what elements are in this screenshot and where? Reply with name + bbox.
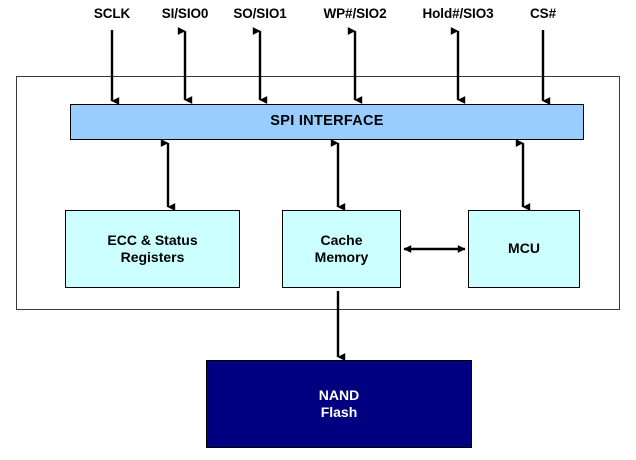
pin-label-sclk: SCLK — [94, 6, 130, 21]
block-nand-flash: NAND Flash — [206, 360, 472, 448]
block-diagram: SCLK SI/SIO0 SO/SIO1 WP#/SIO2 Hold#/SIO3… — [0, 0, 636, 460]
block-mcu: MCU — [468, 210, 580, 288]
block-mcu-label: MCU — [508, 240, 540, 257]
pin-label-si-sio0: SI/SIO0 — [162, 6, 209, 21]
pin-label-cs: CS# — [530, 6, 556, 21]
block-cache-memory: Cache Memory — [282, 210, 401, 288]
block-cache-memory-label: Cache Memory — [315, 232, 369, 266]
block-ecc-status-registers-label: ECC & Status Registers — [107, 232, 197, 266]
pin-label-wp-sio2: WP#/SIO2 — [324, 6, 387, 21]
block-spi-interface: SPI INTERFACE — [70, 104, 584, 140]
pin-label-so-sio1: SO/SIO1 — [233, 6, 286, 21]
block-nand-flash-label: NAND Flash — [319, 387, 359, 421]
pin-label-hold-sio3: Hold#/SIO3 — [422, 6, 493, 21]
block-ecc-status-registers: ECC & Status Registers — [65, 210, 240, 288]
block-spi-interface-label: SPI INTERFACE — [270, 113, 383, 131]
